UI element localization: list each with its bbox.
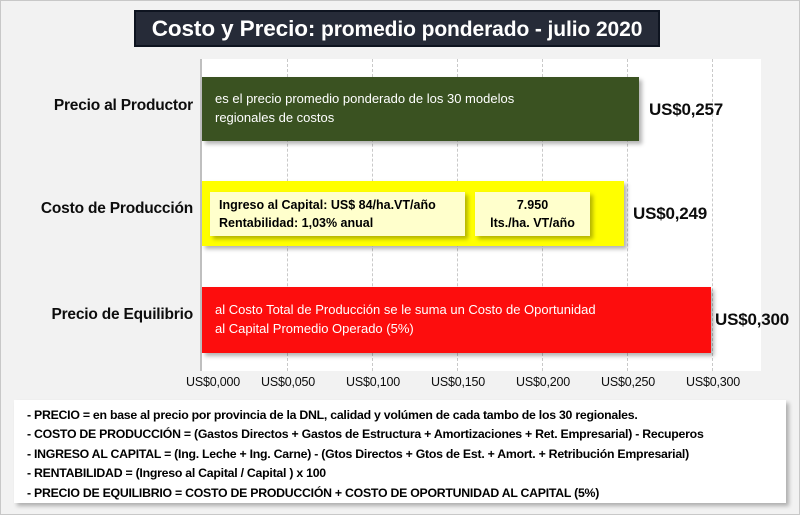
bar-label-precio-al-productor: es el precio promedio ponderado de los 3…: [215, 89, 514, 127]
footnotes-panel: - PRECIO = en base al precio por provinc…: [14, 400, 786, 503]
footnote-precio: - PRECIO = en base al precio por provinc…: [27, 406, 786, 425]
callout-ingreso-rentabilidad: Ingreso al Capital: US$ 84/ha.VT/año Ren…: [210, 192, 465, 236]
footnote-costo-produccion: - COSTO DE PRODUCCIÓN = (Gastos Directos…: [27, 425, 786, 444]
bar-costo-de-produccion[interactable]: Ingreso al Capital: US$ 84/ha.VT/año Ren…: [202, 181, 624, 246]
page-title-rest: promedio ponderado - julio 2020: [315, 18, 642, 41]
value-label-costo-de-produccion: US$0,249: [633, 204, 707, 224]
axis-tick-6: US$0,300: [686, 375, 740, 389]
callout-produccion-litros-text: 7.950 lts./ha. VT/año: [490, 196, 575, 232]
category-label-precio-de-equilibrio: Precio de Equilibrio: [1, 306, 193, 324]
slide-title-bar: Costo y Precio: promedio ponderado - jul…: [134, 10, 660, 47]
footnote-rentabilidad: - RENTABILIDAD = (Ingreso al Capital / C…: [27, 464, 786, 483]
callout-ingreso-rentabilidad-text: Ingreso al Capital: US$ 84/ha.VT/año Ren…: [219, 196, 465, 232]
axis-tick-2: US$0,100: [346, 375, 400, 389]
category-label-costo-de-produccion: Costo de Producción: [1, 200, 193, 218]
slide-canvas: Costo y Precio: promedio ponderado - jul…: [0, 0, 800, 515]
axis-tick-5: US$0,250: [601, 375, 655, 389]
callout-produccion-litros: 7.950 lts./ha. VT/año: [475, 192, 590, 236]
axis-tick-1: US$0,050: [261, 375, 315, 389]
value-label-precio-al-productor: US$0,257: [649, 100, 723, 120]
page-title: Costo y Precio: promedio ponderado - jul…: [152, 16, 643, 42]
value-label-precio-de-equilibrio: US$0,300: [715, 310, 789, 330]
category-label-precio-al-productor: Precio al Productor: [1, 97, 193, 115]
axis-tick-4: US$0,200: [516, 375, 570, 389]
axis-tick-3: US$0,150: [431, 375, 485, 389]
page-title-strong: Costo y Precio:: [152, 16, 316, 41]
axis-tick-0: US$0,000: [186, 375, 240, 389]
footnote-ingreso-capital: - INGRESO AL CAPITAL = (Ing. Leche + Ing…: [27, 445, 786, 464]
bar-precio-de-equilibrio[interactable]: al Costo Total de Producción se le suma …: [202, 287, 711, 353]
footnote-precio-equilibrio: - PRECIO DE EQUILIBRIO = COSTO DE PRODUC…: [27, 484, 786, 503]
bar-label-precio-de-equilibrio: al Costo Total de Producción se le suma …: [215, 300, 596, 338]
bar-precio-al-productor[interactable]: es el precio promedio ponderado de los 3…: [202, 77, 639, 141]
